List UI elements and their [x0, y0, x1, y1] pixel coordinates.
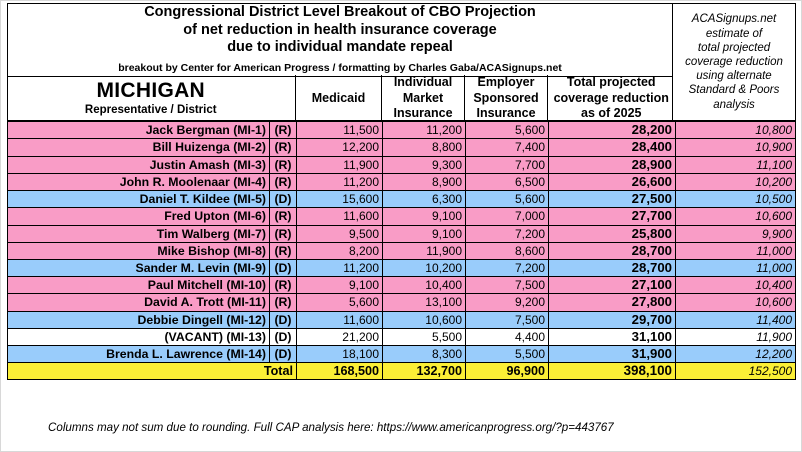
cell-employer-sponsored: 7,200: [466, 225, 549, 242]
cell-employer-sponsored: 7,000: [466, 208, 549, 225]
cell-employer-sponsored: 7,500: [466, 277, 549, 294]
cell-employer-sponsored: 4,400: [466, 328, 549, 345]
table-row: Daniel T. Kildee (MI-5)(D)15,6006,3005,6…: [8, 191, 796, 208]
cell-individual-market: 10,400: [383, 277, 466, 294]
cell-total-projected: 31,100: [549, 328, 676, 345]
cell-alternate-estimate: 11,000: [676, 259, 796, 276]
cell-employer-sponsored: 5,600: [466, 122, 549, 139]
cell-medicaid: 12,200: [297, 139, 383, 156]
cell-alternate-estimate: 10,600: [676, 208, 796, 225]
cell-employer-sponsored: 7,200: [466, 259, 549, 276]
cell-total-projected: 27,500: [549, 191, 676, 208]
cell-total-projected: 31,900: [549, 345, 676, 362]
column-header-employer-line-3: Insurance: [465, 106, 547, 122]
side-note-line-2: estimate of: [673, 27, 795, 41]
cell-total-projected: 28,700: [549, 242, 676, 259]
cell-medicaid: 11,200: [297, 173, 383, 190]
cell-party: (R): [270, 156, 297, 173]
cell-representative: Paul Mitchell (MI-10): [8, 277, 270, 294]
cell-individual-market: 13,100: [383, 294, 466, 311]
header-row-cell: MICHIGAN Representative / District Medic…: [8, 76, 673, 121]
column-header-individual-line-2: Market: [382, 91, 464, 107]
cell-party: (D): [270, 328, 297, 345]
cell-individual-market: 10,200: [383, 259, 466, 276]
cell-party: (D): [270, 259, 297, 276]
cell-representative: Mike Bishop (MI-8): [8, 242, 270, 259]
state-header-cell: MICHIGAN Representative / District: [7, 75, 296, 122]
cell-alternate-estimate: 10,900: [676, 139, 796, 156]
column-header-employer-line-1: Employer: [465, 75, 547, 91]
cell-total-projected: 28,700: [549, 259, 676, 276]
state-subtitle: Representative / District: [7, 103, 296, 118]
cell-total-projected: 28,200: [549, 122, 676, 139]
column-header-individual-market: Individual Market Insurance: [382, 75, 465, 122]
cell-individual-market: 11,200: [383, 122, 466, 139]
cell-employer-sponsored: 8,600: [466, 242, 549, 259]
column-header-medicaid-label: Medicaid: [296, 91, 381, 107]
cell-medicaid: 8,200: [297, 242, 383, 259]
cell-medicaid: 11,900: [297, 156, 383, 173]
cell-alternate-estimate: 11,100: [676, 156, 796, 173]
column-header-medicaid: Medicaid: [296, 75, 382, 122]
cell-medicaid: 15,600: [297, 191, 383, 208]
table-row: Fred Upton (MI-6)(R)11,6009,1007,00027,7…: [8, 208, 796, 225]
cell-representative: Sander M. Levin (MI-9): [8, 259, 270, 276]
column-header-total-line-2: coverage reduction: [548, 91, 675, 107]
cell-alternate-estimate: 10,400: [676, 277, 796, 294]
cell-individual-market: 9,300: [383, 156, 466, 173]
cell-total-projected: 29,700: [549, 311, 676, 328]
column-header-individual-line-1: Individual: [382, 75, 464, 91]
cell-employer-sponsored: 7,400: [466, 139, 549, 156]
cell-representative: (VACANT) (MI-13): [8, 328, 270, 345]
cell-total-alternate-estimate: 152,500: [676, 363, 796, 380]
table-row-total: Total168,500132,70096,900398,100152,500: [8, 363, 796, 380]
cell-total-projected: 26,600: [549, 173, 676, 190]
table-row: Paul Mitchell (MI-10)(R)9,10010,4007,500…: [8, 277, 796, 294]
cell-medicaid: 11,600: [297, 311, 383, 328]
cell-party: (R): [270, 173, 297, 190]
cell-individual-market: 8,300: [383, 345, 466, 362]
cell-total-projected-sum: 398,100: [549, 363, 676, 380]
cell-party: (R): [270, 294, 297, 311]
cell-employer-sponsored: 7,700: [466, 156, 549, 173]
cell-individual-market: 6,300: [383, 191, 466, 208]
cell-individual-market: 11,900: [383, 242, 466, 259]
side-note-line-1: ACASignups.net: [673, 12, 795, 26]
cell-total-projected: 25,800: [549, 225, 676, 242]
cell-alternate-estimate: 10,500: [676, 191, 796, 208]
cell-employer-sponsored: 9,200: [466, 294, 549, 311]
table-row: Jack Bergman (MI-1)(R)11,50011,2005,6002…: [8, 122, 796, 139]
cell-total-medicaid: 168,500: [297, 363, 383, 380]
cell-alternate-estimate: 10,200: [676, 173, 796, 190]
cell-party: (D): [270, 311, 297, 328]
spreadsheet-table: Congressional District Level Breakout of…: [7, 3, 795, 380]
column-header-individual-line-3: Insurance: [382, 106, 464, 122]
cell-total-projected: 28,400: [549, 139, 676, 156]
title-line-3: due to individual mandate repeal: [8, 39, 672, 57]
cell-party: (R): [270, 242, 297, 259]
cell-alternate-estimate: 11,000: [676, 242, 796, 259]
cell-individual-market: 5,500: [383, 328, 466, 345]
cell-alternate-estimate: 11,900: [676, 328, 796, 345]
title-line-1: Congressional District Level Breakout of…: [8, 4, 672, 22]
cell-individual-market: 9,100: [383, 208, 466, 225]
table-row: (VACANT) (MI-13)(D)21,2005,5004,40031,10…: [8, 328, 796, 345]
cell-representative: Daniel T. Kildee (MI-5): [8, 191, 270, 208]
cell-medicaid: 18,100: [297, 345, 383, 362]
cell-individual-market: 8,900: [383, 173, 466, 190]
table-row: Sander M. Levin (MI-9)(D)11,20010,2007,2…: [8, 259, 796, 276]
cell-medicaid: 11,200: [297, 259, 383, 276]
cell-medicaid: 5,600: [297, 294, 383, 311]
cell-employer-sponsored: 6,500: [466, 173, 549, 190]
cell-alternate-estimate: 9,900: [676, 225, 796, 242]
cell-representative: Justin Amash (MI-3): [8, 156, 270, 173]
cell-total-projected: 28,900: [549, 156, 676, 173]
cell-medicaid: 9,500: [297, 225, 383, 242]
table-row: Mike Bishop (MI-8)(R)8,20011,9008,60028,…: [8, 242, 796, 259]
side-note-line-5: using alternate: [673, 69, 795, 83]
cell-employer-sponsored: 5,600: [466, 191, 549, 208]
column-header-total-projected: Total projected coverage reduction as of…: [548, 75, 675, 122]
cell-medicaid: 11,500: [297, 122, 383, 139]
side-note-cell: ACASignups.net estimate of total project…: [673, 4, 796, 121]
cell-total-individual-market: 132,700: [383, 363, 466, 380]
cell-representative: David A. Trott (MI-11): [8, 294, 270, 311]
cell-representative: Tim Walberg (MI-7): [8, 225, 270, 242]
cell-party: (R): [270, 277, 297, 294]
cell-alternate-estimate: 10,600: [676, 294, 796, 311]
table-row: David A. Trott (MI-11)(R)5,60013,1009,20…: [8, 294, 796, 311]
table-row: Bill Huizenga (MI-2)(R)12,2008,8007,4002…: [8, 139, 796, 156]
footnote: Columns may not sum due to rounding. Ful…: [48, 421, 614, 434]
title-band: Congressional District Level Breakout of…: [7, 3, 796, 121]
column-header-total-line-3: as of 2025: [548, 106, 675, 122]
cell-total-employer-sponsored: 96,900: [466, 363, 549, 380]
cell-representative: John R. Moolenaar (MI-4): [8, 173, 270, 190]
cell-alternate-estimate: 10,800: [676, 122, 796, 139]
cell-representative: Debbie Dingell (MI-12): [8, 311, 270, 328]
cell-medicaid: 11,600: [297, 208, 383, 225]
table-row: John R. Moolenaar (MI-4)(R)11,2008,9006,…: [8, 173, 796, 190]
cell-party: (D): [270, 191, 297, 208]
cell-alternate-estimate: 12,200: [676, 345, 796, 362]
table-row: Tim Walberg (MI-7)(R)9,5009,1007,20025,8…: [8, 225, 796, 242]
cell-party: (R): [270, 225, 297, 242]
side-note-line-3: total projected: [673, 41, 795, 55]
cell-total-projected: 27,100: [549, 277, 676, 294]
state-name: MICHIGAN: [7, 78, 296, 103]
district-data-table: Jack Bergman (MI-1)(R)11,50011,2005,6002…: [7, 121, 796, 380]
cell-individual-market: 10,600: [383, 311, 466, 328]
cell-party: (D): [270, 345, 297, 362]
cell-total-projected: 27,800: [549, 294, 676, 311]
title-line-2: of net reduction in health insurance cov…: [8, 22, 672, 40]
cell-alternate-estimate: 11,400: [676, 311, 796, 328]
cell-total-label: Total: [8, 363, 297, 380]
cell-representative: Bill Huizenga (MI-2): [8, 139, 270, 156]
cell-medicaid: 9,100: [297, 277, 383, 294]
cell-employer-sponsored: 7,500: [466, 311, 549, 328]
cell-individual-market: 9,100: [383, 225, 466, 242]
side-note-line-6: Standard & Poors: [673, 83, 795, 97]
title-credit: breakout by Center for American Progress…: [8, 57, 672, 76]
cell-representative: Fred Upton (MI-6): [8, 208, 270, 225]
cell-representative: Brenda L. Lawrence (MI-14): [8, 345, 270, 362]
table-row: Justin Amash (MI-3)(R)11,9009,3007,70028…: [8, 156, 796, 173]
cell-party: (R): [270, 139, 297, 156]
cell-party: (R): [270, 208, 297, 225]
side-note-line-4: coverage reduction: [673, 55, 795, 69]
side-note-line-7: analysis: [673, 98, 795, 112]
title-cell: Congressional District Level Breakout of…: [8, 4, 673, 77]
cell-representative: Jack Bergman (MI-1): [8, 122, 270, 139]
cell-party: (R): [270, 122, 297, 139]
table-row: Brenda L. Lawrence (MI-14)(D)18,1008,300…: [8, 345, 796, 362]
column-header-employer-sponsored: Employer Sponsored Insurance: [465, 75, 548, 122]
column-header-total-line-1: Total projected: [548, 75, 675, 91]
cell-employer-sponsored: 5,500: [466, 345, 549, 362]
table-row: Debbie Dingell (MI-12)(D)11,60010,6007,5…: [8, 311, 796, 328]
cell-individual-market: 8,800: [383, 139, 466, 156]
cell-total-projected: 27,700: [549, 208, 676, 225]
cell-medicaid: 21,200: [297, 328, 383, 345]
column-header-employer-line-2: Sponsored: [465, 91, 547, 107]
